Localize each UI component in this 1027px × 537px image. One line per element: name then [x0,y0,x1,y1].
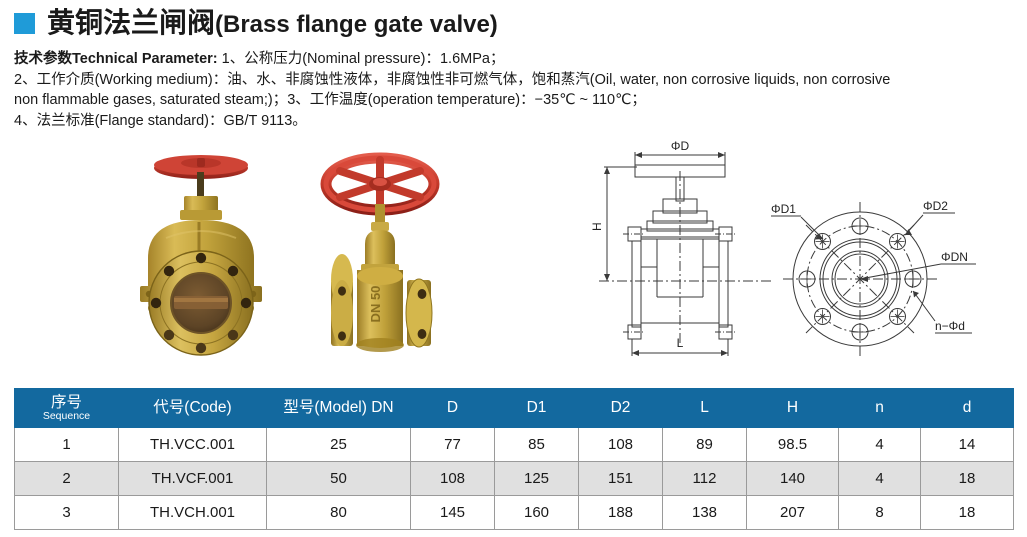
th-code: 代号(Code) [119,389,267,428]
cell-D1: 160 [495,496,579,530]
th-d-hole: d [921,389,1014,428]
title-text: 黄铜法兰闸阀(Brass flange gate valve) [47,9,498,37]
cell-D1: 125 [495,462,579,496]
cell-D2: 188 [579,496,663,530]
param-heading: 技术参数Technical Parameter: [14,51,218,67]
body-cast-marking: DN 50 [368,286,383,323]
th-d: D [411,389,495,428]
product-photo-side-view: DN 50 [285,148,475,356]
technical-drawing-elevation: ΦD H L [585,141,775,363]
cell-dn: 80 [267,496,411,530]
cell-D2: 151 [579,462,663,496]
th-l-label: L [663,390,746,426]
page-title: 黄铜法兰闸阀(Brass flange gate valve) [0,0,1027,37]
elevation-label-d: ΦD [671,141,690,153]
cell-D: 145 [411,496,495,530]
technical-drawing-flange-face: ΦD1 ΦD2 ΦDN n−Φd [765,191,980,363]
table-row: 1 TH.VCC.001 25 77 85 108 89 98.5 4 14 [15,428,1014,462]
cell-n: 8 [839,496,921,530]
table-header-row: 序号 Sequence 代号(Code) 型号(Model) DN D D1 D… [15,389,1014,428]
th-d1-label: D1 [495,390,578,426]
param-line-4: 4、法兰标准(Flange standard)：GB/T 9113。 [14,111,1019,132]
cell-code: TH.VCC.001 [119,428,267,462]
cell-dn: 25 [267,428,411,462]
table-body: 1 TH.VCC.001 25 77 85 108 89 98.5 4 14 2… [15,428,1014,530]
cell-seq: 2 [15,462,119,496]
cell-code: TH.VCF.001 [119,462,267,496]
technical-parameters: 技术参数Technical Parameter: 1、公称压力(Nominal … [14,49,1019,131]
title-chinese: 黄铜法兰闸阀 [47,7,215,38]
specification-table: 序号 Sequence 代号(Code) 型号(Model) DN D D1 D… [14,388,1014,530]
cell-D1: 85 [495,428,579,462]
th-h-label: H [747,390,838,426]
cell-code: TH.VCH.001 [119,496,267,530]
th-code-label: 代号(Code) [119,390,266,426]
th-n-label: n [839,390,920,426]
title-bullet-icon [14,13,35,34]
param-line-1-rest: 1、公称压力(Nominal pressure)：1.6MPa； [218,51,505,67]
th-n: n [839,389,921,428]
param-line-3: non flammable gases, saturated steam;)；3… [14,90,1019,111]
cell-H: 207 [747,496,839,530]
flange-label-d2: ΦD2 [923,199,948,213]
cell-H: 98.5 [747,428,839,462]
th-model-dn-label: 型号(Model) DN [267,390,410,426]
cell-seq: 3 [15,496,119,530]
flange-label-nd: n−Φd [935,319,965,333]
cell-L: 89 [663,428,747,462]
cell-D2: 108 [579,428,663,462]
cell-L: 138 [663,496,747,530]
th-d2-label: D2 [579,390,662,426]
cell-D: 108 [411,462,495,496]
th-sequence-sub: Sequence [15,411,118,422]
table-row: 2 TH.VCF.001 50 108 125 151 112 140 4 18 [15,462,1014,496]
cell-d: 18 [921,462,1014,496]
th-sequence-cn: 序号 [15,394,118,411]
cell-D: 77 [411,428,495,462]
th-sequence: 序号 Sequence [15,389,119,428]
cell-n: 4 [839,428,921,462]
param-line-2: 2、工作介质(Working medium)：油、水、非腐蚀性液体，非腐蚀性非可… [14,70,1019,91]
flange-label-d1: ΦD1 [771,202,796,216]
th-d-label: D [411,390,494,426]
table-row: 3 TH.VCH.001 80 145 160 188 138 207 8 18 [15,496,1014,530]
figures-band: DN 50 [0,139,1027,364]
cell-seq: 1 [15,428,119,462]
specification-table-wrap: 序号 Sequence 代号(Code) 型号(Model) DN D D1 D… [14,388,1013,530]
flange-label-dn: ΦDN [941,250,968,264]
title-english: (Brass flange gate valve) [215,11,498,38]
cell-d: 18 [921,496,1014,530]
th-d-hole-label: d [921,390,1013,426]
param-line-1: 技术参数Technical Parameter: 1、公称压力(Nominal … [14,49,1019,70]
th-model-dn: 型号(Model) DN [267,389,411,428]
cell-d: 14 [921,428,1014,462]
cell-H: 140 [747,462,839,496]
th-d1: D1 [495,389,579,428]
product-photo-flange-face [96,146,306,358]
th-l: L [663,389,747,428]
elevation-label-h: H [590,222,604,231]
elevation-label-l: L [677,336,684,350]
th-d2: D2 [579,389,663,428]
th-h: H [747,389,839,428]
cell-n: 4 [839,462,921,496]
cell-L: 112 [663,462,747,496]
cell-dn: 50 [267,462,411,496]
